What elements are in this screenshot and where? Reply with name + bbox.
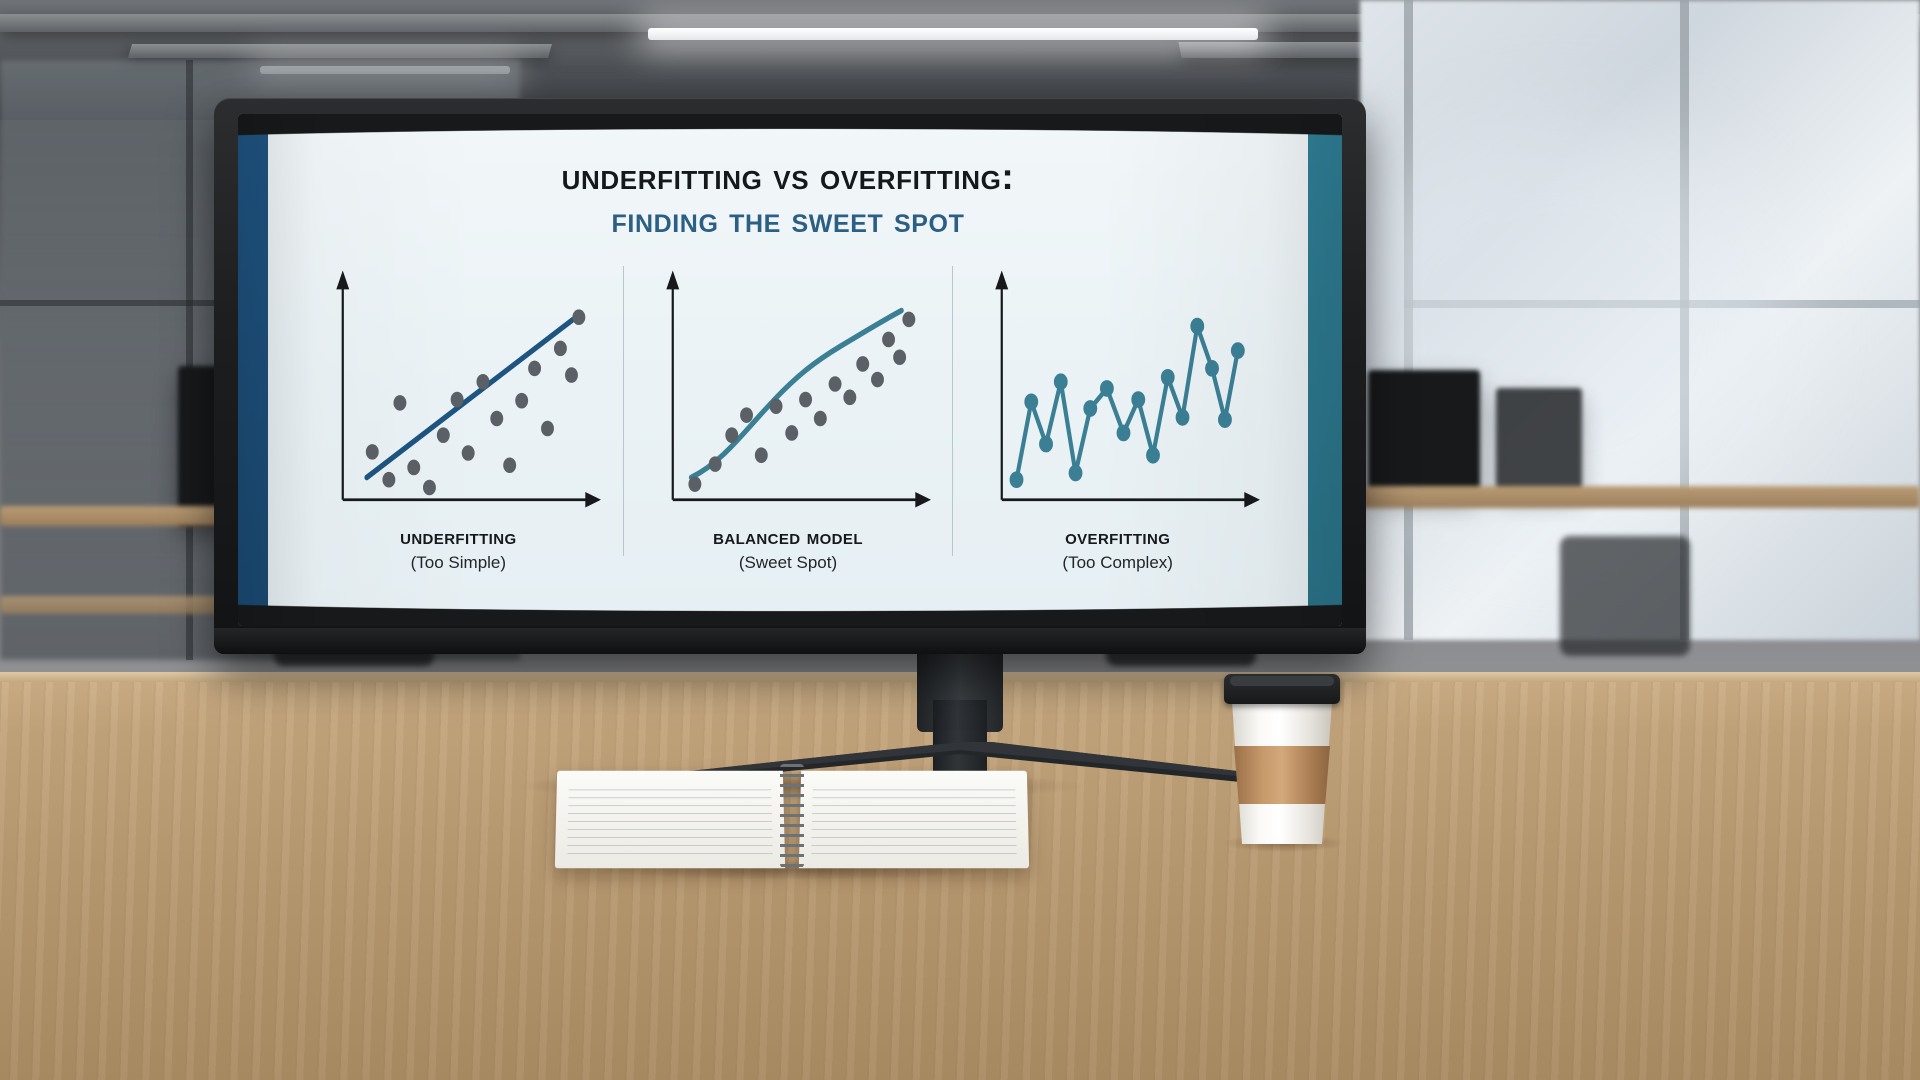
slide-accent-bar-right <box>1308 114 1342 626</box>
presentation-slide: Underfitting vs Overfitting: Finding the… <box>268 114 1308 626</box>
y-axis-arrow <box>666 270 679 289</box>
overfit-line <box>1017 326 1238 480</box>
screen-curvature-bottom <box>238 600 1342 626</box>
panel-label: Underfitting <box>294 526 623 550</box>
y-axis-arrow <box>996 270 1009 289</box>
slide-title-main: Underfitting vs Overfitting: <box>268 158 1308 196</box>
office-scene: Underfitting vs Overfitting: Finding the… <box>0 0 1920 1080</box>
balanced-model-plot <box>658 266 935 522</box>
cup-sleeve <box>1234 746 1330 804</box>
balanced-model-caption: Balanced Model (Sweet Spot) <box>624 526 953 573</box>
glass-frame <box>186 60 193 660</box>
slide-title-block: Underfitting vs Overfitting: Finding the… <box>268 158 1308 240</box>
monitor-screen[interactable]: Underfitting vs Overfitting: Finding the… <box>238 114 1342 626</box>
x-axis-arrow <box>585 492 601 508</box>
ceiling-beam <box>128 44 552 58</box>
axes <box>1002 282 1251 500</box>
screen-curvature-top <box>238 114 1342 140</box>
overfitting-plot <box>987 266 1264 522</box>
panel-sublabel: (Too Simple) <box>294 553 623 573</box>
panel-label: Balanced Model <box>624 526 953 550</box>
panel-overfitting: Overfitting (Too Complex) <box>953 262 1282 592</box>
chart-panels: Underfitting (Too Simple) <box>294 262 1282 592</box>
notebook-page-right <box>799 771 1029 868</box>
underfitting-plot <box>328 266 605 522</box>
x-axis-arrow <box>915 492 931 508</box>
background-chair <box>1560 536 1690 656</box>
background-desk-right <box>1340 486 1920 508</box>
background-monitor-right <box>1368 370 1480 494</box>
panel-underfitting: Underfitting (Too Simple) <box>294 262 623 592</box>
open-notebook <box>556 770 1028 870</box>
y-axis-arrow <box>336 270 349 289</box>
x-axis-arrow <box>1245 492 1261 508</box>
underfitting-caption: Underfitting (Too Simple) <box>294 526 623 573</box>
panel-sublabel: (Too Complex) <box>953 553 1282 573</box>
notebook-page-left <box>555 771 785 868</box>
slide-accent-bar-left <box>238 114 268 626</box>
ceiling-light <box>648 28 1258 40</box>
curved-monitor: Underfitting vs Overfitting: Finding the… <box>214 98 1366 654</box>
panel-sublabel: (Sweet Spot) <box>624 553 953 573</box>
scatter-points <box>688 312 915 492</box>
cup-lid <box>1224 674 1340 704</box>
background-monitor-right-2 <box>1496 388 1582 492</box>
slide-title-sub: Finding the Sweet Spot <box>268 200 1308 240</box>
coffee-cup <box>1224 674 1340 846</box>
notebook-spiral-binding <box>780 764 804 868</box>
panel-label: Overfitting <box>953 526 1282 550</box>
panel-balanced-model: Balanced Model (Sweet Spot) <box>624 262 953 592</box>
notebook-ruled-lines <box>811 782 1017 858</box>
fit-curve <box>691 311 901 478</box>
cup-lid-top <box>1230 676 1334 686</box>
overfit-points <box>1010 318 1245 488</box>
overfitting-caption: Overfitting (Too Complex) <box>953 526 1282 573</box>
notebook-ruled-lines <box>567 782 773 858</box>
background-desk-far <box>0 596 250 614</box>
